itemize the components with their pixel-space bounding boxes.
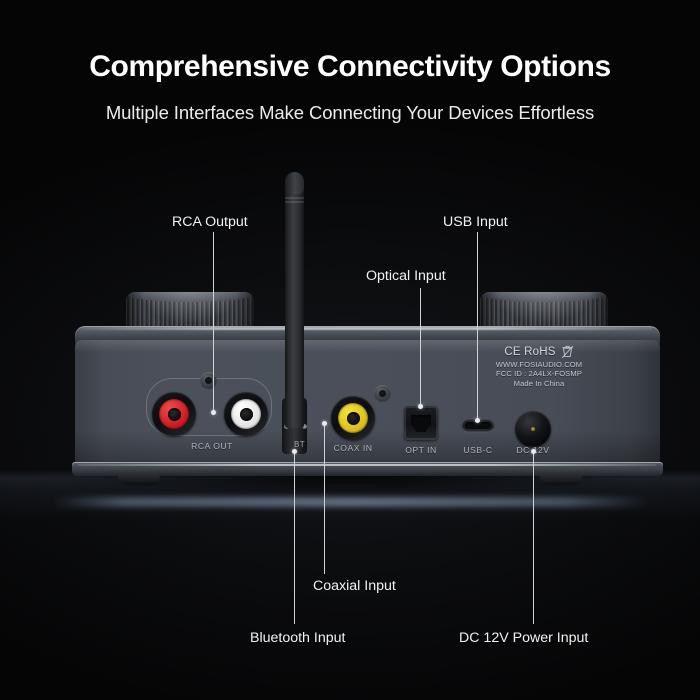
- rubber-foot-right: [540, 474, 582, 485]
- chassis-top-highlight: [82, 327, 653, 330]
- port-label-bt: BT: [294, 440, 305, 449]
- leader-line-optical-input: [420, 288, 421, 408]
- coax-jack: [331, 396, 375, 440]
- base-highlight-line: [78, 464, 656, 466]
- amplifier-rear-panel: RCA OUT COAX IN OPT IN USB-C DC 12V CE R…: [0, 0, 700, 700]
- infographic-canvas: Comprehensive Connectivity Options Multi…: [0, 0, 700, 700]
- compliance-marks-row: CE RoHS: [480, 345, 598, 360]
- fcc-id-text: FCC ID : 2A4LX-FOSMP: [480, 369, 598, 379]
- callout-label-dc-power-input: DC 12V Power Input: [459, 630, 588, 646]
- rca-hole-left: [168, 408, 181, 421]
- website-text: WWW.FOSIAUDIO.COM: [480, 360, 598, 370]
- callout-label-coaxial-input: Coaxial Input: [313, 578, 396, 594]
- origin-text: Made In China: [480, 379, 598, 389]
- regulatory-block: CE RoHS WWW.FOSIAUDIO.COM FCC ID : 2A4LX…: [480, 345, 598, 389]
- port-label-opt-in: OPT IN: [389, 445, 453, 455]
- port-label-rca-out: RCA OUT: [175, 441, 249, 451]
- leader-line-bluetooth-input: [294, 452, 295, 624]
- rubber-foot-left: [118, 474, 160, 485]
- dc-power-jack: [515, 411, 551, 447]
- knob-cap-left: [126, 292, 254, 302]
- coax-hole: [347, 412, 360, 425]
- antenna-band-2: [285, 201, 304, 203]
- leader-dot-rca-output: [211, 410, 216, 415]
- rca-jack-right: [224, 392, 268, 436]
- callout-label-optical-input: Optical Input: [366, 268, 446, 284]
- rca-jack-left: [152, 392, 196, 436]
- leader-line-dc-power-input: [533, 452, 534, 624]
- leader-line-coaxial-input: [324, 424, 325, 574]
- rca-ring-white: [231, 399, 261, 429]
- leader-dot-bluetooth-input: [292, 449, 297, 454]
- dc-center-pin: [531, 427, 535, 431]
- ce-rohs-text: CE RoHS: [504, 345, 555, 360]
- leader-dot-usb-input: [475, 418, 480, 423]
- antenna-tip: [285, 172, 304, 194]
- callout-label-usb-input: USB Input: [443, 214, 508, 230]
- optical-port: [404, 406, 438, 440]
- bluetooth-antenna: [285, 178, 304, 428]
- leader-dot-dc-power-input: [531, 449, 536, 454]
- panel-screw-coax: [374, 385, 391, 402]
- coax-ring-yellow: [338, 403, 368, 433]
- panel-screw-rca: [200, 372, 217, 389]
- weee-bin-icon: [561, 345, 574, 359]
- callout-label-bluetooth-input: Bluetooth Input: [250, 630, 345, 646]
- leader-dot-coaxial-input: [322, 421, 327, 426]
- port-label-coax-in: COAX IN: [316, 443, 390, 453]
- antenna-band-1: [285, 197, 304, 199]
- leader-dot-optical-input: [418, 404, 423, 409]
- leader-line-usb-input: [477, 232, 478, 422]
- leader-line-rca-output: [213, 232, 214, 412]
- callout-label-rca-output: RCA Output: [172, 214, 248, 230]
- knob-cap-right: [480, 292, 608, 302]
- rca-ring-red: [159, 399, 189, 429]
- rca-hole-right: [240, 408, 253, 421]
